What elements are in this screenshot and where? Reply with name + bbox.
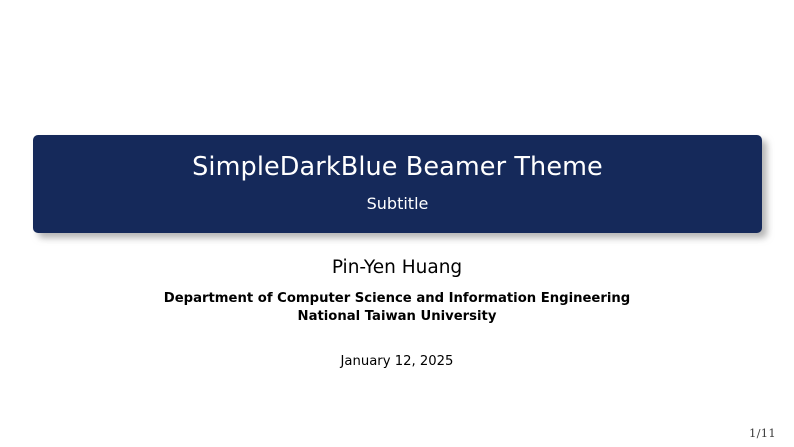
slide-metadata: Pin-Yen Huang Department of Computer Sci… bbox=[0, 256, 794, 370]
page-number-indicator: 1/11 bbox=[749, 426, 776, 440]
presentation-slide: SimpleDarkBlue Beamer Theme Subtitle Pin… bbox=[0, 0, 794, 447]
author-name: Pin-Yen Huang bbox=[0, 256, 794, 279]
page-title: SimpleDarkBlue Beamer Theme bbox=[192, 153, 603, 182]
page-subtitle: Subtitle bbox=[367, 194, 429, 213]
title-block: SimpleDarkBlue Beamer Theme Subtitle bbox=[33, 135, 762, 233]
institute-line-university: National Taiwan University bbox=[0, 308, 794, 325]
presentation-date: January 12, 2025 bbox=[0, 353, 794, 370]
institute-line-department: Department of Computer Science and Infor… bbox=[0, 290, 794, 307]
institute: Department of Computer Science and Infor… bbox=[0, 290, 794, 325]
